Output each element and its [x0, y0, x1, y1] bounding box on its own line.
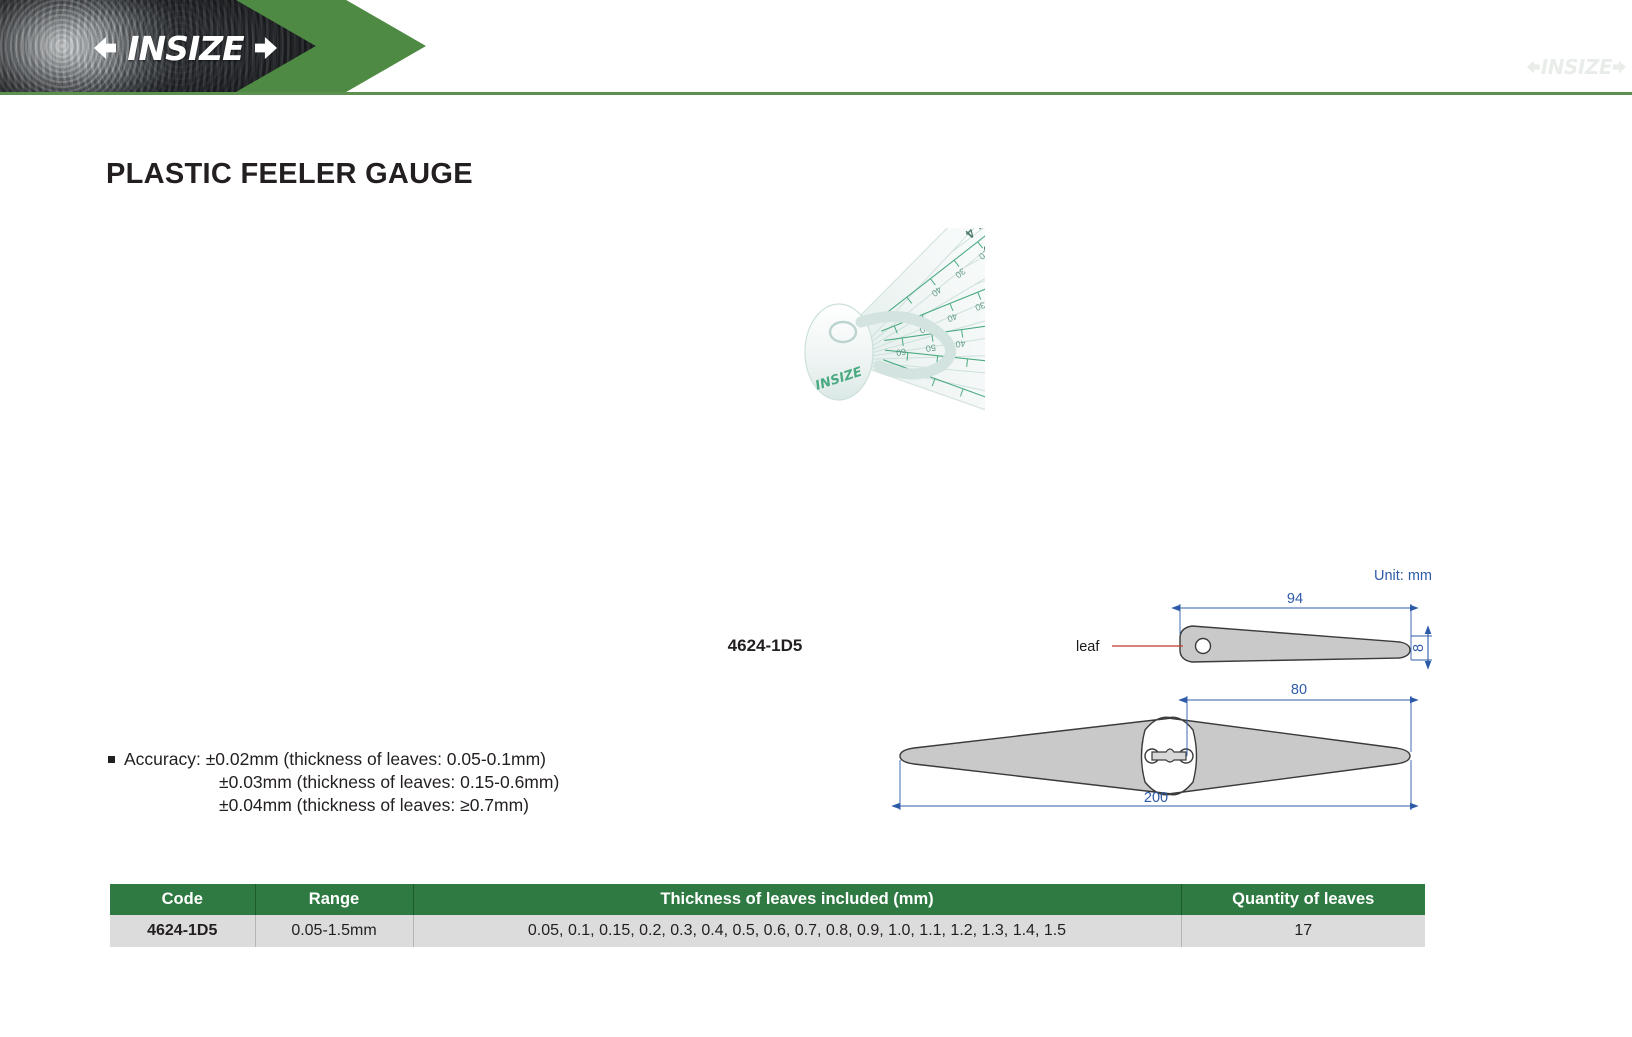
dimension-8: 8	[1411, 634, 1432, 662]
gauge-leaf-fan: 0.5 0.6 0.7 0.8 0.9 1.0 1.1 1.2 1.3 1.4 …	[805, 228, 985, 445]
insize-logo: INSIZE	[98, 28, 273, 68]
svg-text:50: 50	[925, 342, 936, 353]
cell-quantity: 17	[1181, 915, 1425, 947]
svg-text:60: 60	[895, 347, 906, 358]
dimension-94-label: 94	[1287, 591, 1303, 607]
unit-label: Unit: mm	[1374, 568, 1432, 584]
accuracy-value-1: ±0.02mm (thickness of leaves: 0.05-0.1mm…	[206, 749, 546, 769]
accuracy-value-3: ±0.04mm (thickness of leaves: ≥0.7mm)	[219, 795, 529, 815]
watermark-right-arrow-icon	[1613, 61, 1626, 74]
column-header-code: Code	[110, 884, 255, 915]
logo-wordmark: INSIZE	[127, 32, 243, 65]
leaf-callout: leaf	[1076, 639, 1183, 655]
page-title: PLASTIC FEELER GAUGE	[106, 158, 473, 191]
svg-text:40: 40	[955, 338, 966, 349]
cell-code: 4624-1D5	[110, 915, 255, 947]
technical-drawings: Unit: mm leaf 94	[880, 560, 1440, 820]
leaf-callout-label: leaf	[1076, 639, 1100, 655]
accuracy-value-2: ±0.03mm (thickness of leaves: 0.15-0.6mm…	[219, 772, 559, 792]
drawing-single-leaf	[1180, 626, 1410, 662]
accuracy-label: Accuracy:	[124, 749, 201, 769]
accuracy-line-2: ±0.03mm (thickness of leaves: 0.15-0.6mm…	[108, 771, 559, 794]
specifications-table: Code Range Thickness of leaves included …	[110, 884, 1425, 947]
accuracy-line-3: ±0.04mm (thickness of leaves: ≥0.7mm)	[108, 794, 559, 817]
table-row: 4624-1D5 0.05-1.5mm 0.05, 0.1, 0.15, 0.2…	[110, 915, 1425, 947]
cell-thickness: 0.05, 0.1, 0.15, 0.2, 0.3, 0.4, 0.5, 0.6…	[413, 915, 1181, 947]
accuracy-line-1: Accuracy: ±0.02mm (thickness of leaves: …	[108, 748, 559, 771]
column-header-thickness: Thickness of leaves included (mm)	[413, 884, 1181, 915]
dimension-8-label: 8	[1411, 644, 1427, 652]
logo-left-arrow-icon	[94, 37, 116, 59]
insize-watermark: INSIZE	[1446, 52, 1626, 82]
dimension-80-label: 80	[1291, 682, 1307, 698]
dimension-200-label: 200	[1144, 790, 1168, 806]
drawing-two-leaves-open	[900, 717, 1410, 795]
header-green-rule	[0, 92, 1632, 95]
column-header-range: Range	[255, 884, 413, 915]
bullet-square-icon	[108, 756, 115, 763]
column-header-quantity: Quantity of leaves	[1181, 884, 1425, 915]
page-header: INSIZE INSIZE	[0, 0, 1632, 96]
accuracy-spec-block: Accuracy: ±0.02mm (thickness of leaves: …	[108, 748, 559, 817]
product-photo: 0.5 0.6 0.7 0.8 0.9 1.0 1.1 1.2 1.3 1.4 …	[545, 228, 985, 598]
cell-range: 0.05-1.5mm	[255, 915, 413, 947]
watermark-left-arrow-icon	[1527, 61, 1540, 74]
watermark-wordmark: INSIZE	[1541, 57, 1612, 77]
table-header-row: Code Range Thickness of leaves included …	[110, 884, 1425, 915]
